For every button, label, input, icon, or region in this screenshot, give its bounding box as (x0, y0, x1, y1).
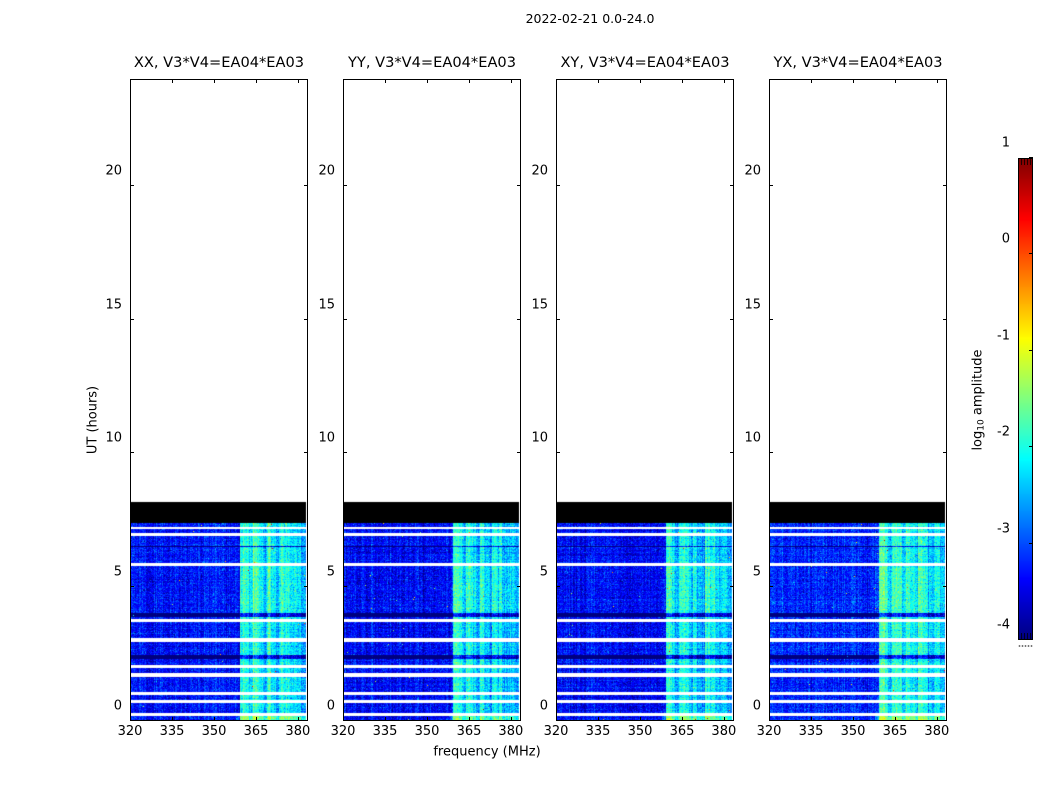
colorbar-tick (1029, 157, 1033, 158)
ytick-mark (130, 185, 134, 186)
ytick-mark (130, 586, 134, 587)
ytick-label: 0 (753, 699, 761, 714)
ytick-label: 10 (531, 431, 548, 446)
ytick-label: 20 (531, 164, 548, 179)
xtick-label: 350 (202, 724, 227, 739)
xtick-mark (724, 717, 725, 721)
xtick-label: 365 (244, 724, 269, 739)
xtick-mark (385, 717, 386, 721)
xtick-mark (130, 79, 131, 83)
ytick-label: 0 (114, 699, 122, 714)
xtick-mark (895, 79, 896, 83)
xtick-mark (769, 79, 770, 83)
ytick-mark (769, 452, 773, 453)
ytick-mark (730, 452, 734, 453)
colorbar-tick-label: -2 (997, 425, 1010, 440)
figure-canvas: 2022-02-21 0.0-24.0 XX, V3*V4=EA04*EA03 … (0, 0, 1050, 800)
colorbar-tick (1029, 350, 1033, 351)
xtick-mark (811, 717, 812, 721)
colorbar-label-tail: amplitude (971, 349, 986, 419)
colorbar-minor-tick (1024, 159, 1025, 165)
xtick-mark (214, 79, 215, 83)
ytick-label: 20 (744, 164, 761, 179)
xtick-label: 320 (544, 724, 569, 739)
xtick-mark (298, 717, 299, 721)
waterfall-image-xx[interactable] (130, 79, 308, 721)
xtick-mark (511, 79, 512, 83)
ytick-mark (517, 452, 521, 453)
waterfall-image-yy[interactable] (343, 79, 521, 721)
ytick-label: 20 (318, 164, 335, 179)
xtick-mark (811, 79, 812, 83)
ytick-mark (943, 185, 947, 186)
xtick-mark (385, 79, 386, 83)
ytick-mark (304, 452, 308, 453)
colorbar-tick (1029, 639, 1033, 640)
ytick-mark (130, 720, 134, 721)
x-axis-label: frequency (MHz) (433, 745, 540, 760)
xtick-mark (937, 717, 938, 721)
colorbar-label-main: log (971, 431, 986, 451)
xtick-mark (598, 717, 599, 721)
figure-title-text: 2022-02-21 0.0-24.0 (526, 12, 655, 26)
ytick-label: 5 (540, 565, 548, 580)
panel-yx[interactable]: YX, V3*V4=EA04*EA03 320 335 350 365 380 … (769, 79, 947, 721)
ytick-mark (343, 720, 347, 721)
ytick-mark (304, 586, 308, 587)
xtick-label: 380 (285, 724, 310, 739)
colorbar-label-sub: 10 (977, 419, 987, 430)
ytick-mark (943, 720, 947, 721)
ytick-mark (343, 452, 347, 453)
ytick-mark (517, 185, 521, 186)
xtick-mark (853, 717, 854, 721)
xtick-mark (172, 717, 173, 721)
panel-title-yx: YX, V3*V4=EA04*EA03 (729, 55, 987, 71)
colorbar-minor-tick (1030, 633, 1031, 639)
ytick-mark (517, 319, 521, 320)
xtick-label: 320 (331, 724, 356, 739)
colorbar-minor-tick (1027, 633, 1028, 639)
xtick-label: 335 (799, 724, 824, 739)
xtick-mark (298, 79, 299, 83)
waterfall-image-xy[interactable] (556, 79, 734, 721)
ytick-label: 15 (318, 297, 335, 312)
ytick-mark (556, 319, 560, 320)
colorbar-underline-dots (1018, 645, 1033, 647)
ytick-mark (769, 720, 773, 721)
ytick-mark (304, 319, 308, 320)
ytick-mark (943, 586, 947, 587)
ytick-label: 5 (753, 565, 761, 580)
xtick-mark (343, 79, 344, 83)
ytick-label: 15 (105, 297, 122, 312)
xtick-mark (172, 79, 173, 83)
ytick-label: 0 (540, 699, 548, 714)
ytick-mark (556, 452, 560, 453)
ytick-label: 10 (105, 431, 122, 446)
xtick-label: 350 (415, 724, 440, 739)
colorbar-minor-tick (1027, 159, 1028, 165)
colorbar-minor-tick (1024, 633, 1025, 639)
xtick-label: 350 (628, 724, 653, 739)
panel-xx[interactable]: XX, V3*V4=EA04*EA03 320 335 350 365 380 … (130, 79, 308, 721)
ytick-mark (130, 319, 134, 320)
ytick-mark (730, 586, 734, 587)
xtick-mark (598, 79, 599, 83)
ytick-mark (556, 586, 560, 587)
ytick-mark (130, 452, 134, 453)
ytick-label: 20 (105, 164, 122, 179)
xtick-mark (256, 717, 257, 721)
colorbar-tick (1029, 543, 1033, 544)
xtick-mark (682, 717, 683, 721)
colorbar-tick-label: -3 (997, 521, 1010, 536)
ytick-mark (730, 185, 734, 186)
ytick-mark (769, 319, 773, 320)
colorbar-tick-label: -4 (997, 618, 1010, 633)
ytick-label: 5 (327, 565, 335, 580)
xtick-mark (724, 79, 725, 83)
xtick-label: 380 (924, 724, 949, 739)
ytick-label: 5 (114, 565, 122, 580)
y-axis-label: UT (hours) (86, 386, 101, 454)
waterfall-image-yx[interactable] (769, 79, 947, 721)
xtick-label: 320 (757, 724, 782, 739)
colorbar-tick (1029, 253, 1033, 254)
ytick-mark (730, 319, 734, 320)
ytick-label: 0 (327, 699, 335, 714)
xtick-mark (469, 717, 470, 721)
ytick-mark (517, 720, 521, 721)
ytick-label: 10 (744, 431, 761, 446)
xtick-label: 380 (711, 724, 736, 739)
colorbar[interactable]: 1 0 -1 -2 -3 -4 (1018, 158, 1033, 640)
xtick-mark (256, 79, 257, 83)
xtick-label: 350 (841, 724, 866, 739)
ytick-mark (556, 720, 560, 721)
colorbar-minor-tick (1021, 159, 1022, 165)
ytick-mark (943, 452, 947, 453)
colorbar-tick (1029, 446, 1033, 447)
colorbar-tick-label: -1 (997, 328, 1010, 343)
xtick-mark (895, 717, 896, 721)
panel-xy[interactable]: XY, V3*V4=EA04*EA03 320 335 350 365 380 … (556, 79, 734, 721)
colorbar-tick-label: 0 (1002, 232, 1010, 247)
colorbar-minor-tick (1021, 633, 1022, 639)
figure-title: 2022-02-21 0.0-24.0 (0, 12, 1050, 26)
ytick-mark (343, 586, 347, 587)
ytick-mark (343, 185, 347, 186)
xtick-mark (214, 717, 215, 721)
xtick-label: 335 (160, 724, 185, 739)
ytick-mark (304, 720, 308, 721)
xtick-mark (937, 79, 938, 83)
ytick-mark (304, 185, 308, 186)
ytick-mark (730, 720, 734, 721)
ytick-mark (769, 185, 773, 186)
xtick-label: 380 (498, 724, 523, 739)
ytick-label: 15 (531, 297, 548, 312)
xtick-mark (427, 717, 428, 721)
xtick-label: 365 (670, 724, 695, 739)
xtick-label: 365 (883, 724, 908, 739)
xtick-mark (640, 79, 641, 83)
colorbar-tick-label: 1 (1002, 136, 1010, 151)
ytick-label: 15 (744, 297, 761, 312)
xtick-mark (640, 717, 641, 721)
xtick-mark (511, 717, 512, 721)
colorbar-minor-tick (1030, 159, 1031, 165)
xtick-label: 365 (457, 724, 482, 739)
ytick-mark (517, 586, 521, 587)
ytick-mark (343, 319, 347, 320)
xtick-mark (469, 79, 470, 83)
ytick-mark (943, 319, 947, 320)
xtick-label: 320 (118, 724, 143, 739)
xtick-label: 335 (373, 724, 398, 739)
xtick-mark (853, 79, 854, 83)
xtick-mark (427, 79, 428, 83)
colorbar-label: log10 amplitude (971, 349, 986, 450)
ytick-label: 10 (318, 431, 335, 446)
xtick-mark (556, 79, 557, 83)
panel-yy[interactable]: YY, V3*V4=EA04*EA03 320 335 350 365 380 … (343, 79, 521, 721)
colorbar-frame (1018, 158, 1033, 640)
xtick-mark (682, 79, 683, 83)
ytick-mark (769, 586, 773, 587)
ytick-mark (556, 185, 560, 186)
xtick-label: 335 (586, 724, 611, 739)
